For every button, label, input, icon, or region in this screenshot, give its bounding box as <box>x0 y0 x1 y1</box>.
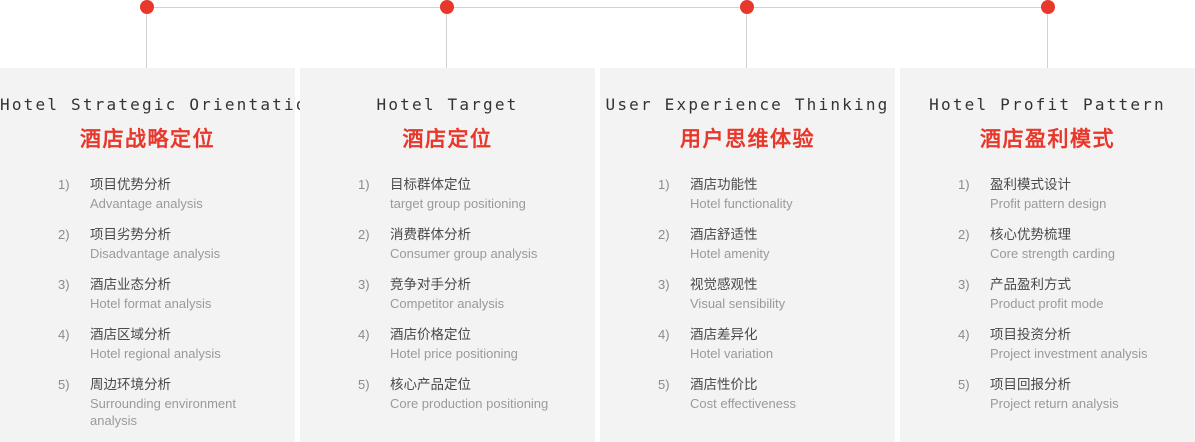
list-item: 4) 酒店价格定位 Hotel price positioning <box>358 325 577 362</box>
item-label-cn: 视觉感观性 <box>690 275 877 294</box>
item-number: 4) <box>658 325 690 362</box>
item-body: 项目劣势分析 Disadvantage analysis <box>90 225 277 262</box>
item-label-cn: 盈利模式设计 <box>990 175 1177 194</box>
item-number: 2) <box>658 225 690 262</box>
item-label-en: Hotel functionality <box>690 195 877 212</box>
item-number: 3) <box>58 275 90 312</box>
list-item: 5) 周边环境分析 Surrounding environment analys… <box>58 375 277 429</box>
item-label-en: target group positioning <box>390 195 577 212</box>
item-body: 视觉感观性 Visual sensibility <box>690 275 877 312</box>
item-label-en: Profit pattern design <box>990 195 1177 212</box>
list-item: 2) 核心优势梳理 Core strength carding <box>958 225 1177 262</box>
item-number: 5) <box>958 375 990 412</box>
item-body: 项目回报分析 Project return analysis <box>990 375 1177 412</box>
item-number: 2) <box>958 225 990 262</box>
item-label-cn: 产品盈利方式 <box>990 275 1177 294</box>
item-number: 1) <box>58 175 90 212</box>
item-label-en: Surrounding environment analysis <box>90 395 277 429</box>
item-label-en: Hotel format analysis <box>90 295 277 312</box>
item-body: 酒店价格定位 Hotel price positioning <box>390 325 577 362</box>
item-number: 4) <box>958 325 990 362</box>
list-item: 1) 目标群体定位 target group positioning <box>358 175 577 212</box>
list-item: 3) 酒店业态分析 Hotel format analysis <box>58 275 277 312</box>
item-label-cn: 周边环境分析 <box>90 375 277 394</box>
item-label-cn: 核心产品定位 <box>390 375 577 394</box>
item-label-en: Visual sensibility <box>690 295 877 312</box>
item-body: 盈利模式设计 Profit pattern design <box>990 175 1177 212</box>
item-label-cn: 核心优势梳理 <box>990 225 1177 244</box>
item-number: 1) <box>958 175 990 212</box>
item-body: 目标群体定位 target group positioning <box>390 175 577 212</box>
column-title-cn: 酒店盈利模式 <box>900 123 1195 153</box>
item-body: 核心产品定位 Core production positioning <box>390 375 577 412</box>
item-label-en: Hotel regional analysis <box>90 345 277 362</box>
item-body: 周边环境分析 Surrounding environment analysis <box>90 375 277 429</box>
item-label-en: Project investment analysis <box>990 345 1177 362</box>
item-label-en: Hotel price positioning <box>390 345 577 362</box>
timeline-node-2[interactable] <box>440 0 454 14</box>
list-item: 5) 酒店性价比 Cost effectiveness <box>658 375 877 412</box>
list-item: 4) 酒店差异化 Hotel variation <box>658 325 877 362</box>
item-label-cn: 消费群体分析 <box>390 225 577 244</box>
item-label-en: Consumer group analysis <box>390 245 577 262</box>
item-label-en: Core production positioning <box>390 395 577 412</box>
list-item: 5) 项目回报分析 Project return analysis <box>958 375 1177 412</box>
timeline-line <box>140 7 1050 8</box>
item-body: 酒店差异化 Hotel variation <box>690 325 877 362</box>
item-body: 消费群体分析 Consumer group analysis <box>390 225 577 262</box>
item-label-en: Product profit mode <box>990 295 1177 312</box>
item-label-cn: 酒店业态分析 <box>90 275 277 294</box>
item-label-en: Cost effectiveness <box>690 395 877 412</box>
item-label-cn: 项目优势分析 <box>90 175 277 194</box>
item-label-cn: 项目回报分析 <box>990 375 1177 394</box>
item-body: 酒店舒适性 Hotel amenity <box>690 225 877 262</box>
item-number: 1) <box>358 175 390 212</box>
column-title-en: Hotel Target <box>300 95 595 114</box>
item-label-cn: 酒店差异化 <box>690 325 877 344</box>
timeline-node-4[interactable] <box>1041 0 1055 14</box>
item-number: 5) <box>658 375 690 412</box>
item-label-cn: 酒店区域分析 <box>90 325 277 344</box>
item-body: 酒店业态分析 Hotel format analysis <box>90 275 277 312</box>
list-item: 1) 盈利模式设计 Profit pattern design <box>958 175 1177 212</box>
timeline-stem-4 <box>1047 14 1048 72</box>
list-item: 1) 项目优势分析 Advantage analysis <box>58 175 277 212</box>
column-title-en: Hotel Profit Pattern <box>900 95 1195 114</box>
item-label-cn: 项目劣势分析 <box>90 225 277 244</box>
item-label-en: Project return analysis <box>990 395 1177 412</box>
item-label-cn: 酒店性价比 <box>690 375 877 394</box>
item-number: 2) <box>358 225 390 262</box>
item-label-cn: 竞争对手分析 <box>390 275 577 294</box>
list-item: 3) 视觉感观性 Visual sensibility <box>658 275 877 312</box>
list-item: 5) 核心产品定位 Core production positioning <box>358 375 577 412</box>
list-item: 1) 酒店功能性 Hotel functionality <box>658 175 877 212</box>
list-item: 4) 项目投资分析 Project investment analysis <box>958 325 1177 362</box>
item-body: 产品盈利方式 Product profit mode <box>990 275 1177 312</box>
column-hotel-target[interactable]: Hotel Target 酒店定位 1) 目标群体定位 target group… <box>300 68 595 442</box>
timeline <box>0 0 1195 72</box>
item-label-en: Advantage analysis <box>90 195 277 212</box>
item-number: 4) <box>58 325 90 362</box>
column-hotel-strategic-orientation[interactable]: Hotel Strategic Orientation 酒店战略定位 1) 项目… <box>0 68 295 442</box>
item-number: 5) <box>58 375 90 429</box>
item-label-en: Core strength carding <box>990 245 1177 262</box>
timeline-stem-3 <box>746 14 747 72</box>
column-title-cn: 酒店战略定位 <box>0 123 295 153</box>
timeline-node-1[interactable] <box>140 0 154 14</box>
column-group: Hotel Strategic Orientation 酒店战略定位 1) 项目… <box>0 68 1195 442</box>
item-body: 酒店功能性 Hotel functionality <box>690 175 877 212</box>
item-body: 竞争对手分析 Competitor analysis <box>390 275 577 312</box>
item-body: 核心优势梳理 Core strength carding <box>990 225 1177 262</box>
item-body: 项目投资分析 Project investment analysis <box>990 325 1177 362</box>
item-number: 4) <box>358 325 390 362</box>
column-title-en: Hotel Strategic Orientation <box>0 95 295 114</box>
column-user-experience-thinking[interactable]: User Experience Thinking 用户思维体验 1) 酒店功能性… <box>600 68 895 442</box>
item-number: 3) <box>658 275 690 312</box>
item-label-cn: 目标群体定位 <box>390 175 577 194</box>
item-number: 3) <box>358 275 390 312</box>
item-label-cn: 项目投资分析 <box>990 325 1177 344</box>
column-title-cn: 酒店定位 <box>300 123 595 153</box>
item-list: 1) 酒店功能性 Hotel functionality 2) 酒店舒适性 Ho… <box>600 175 895 412</box>
list-item: 2) 消费群体分析 Consumer group analysis <box>358 225 577 262</box>
timeline-node-3[interactable] <box>740 0 754 14</box>
list-item: 3) 产品盈利方式 Product profit mode <box>958 275 1177 312</box>
item-list: 1) 盈利模式设计 Profit pattern design 2) 核心优势梳… <box>900 175 1195 412</box>
item-number: 2) <box>58 225 90 262</box>
list-item: 2) 酒店舒适性 Hotel amenity <box>658 225 877 262</box>
item-label-en: Hotel variation <box>690 345 877 362</box>
item-number: 1) <box>658 175 690 212</box>
item-label-cn: 酒店价格定位 <box>390 325 577 344</box>
column-title-en: User Experience Thinking <box>600 95 895 114</box>
timeline-stem-2 <box>446 14 447 72</box>
item-number: 5) <box>358 375 390 412</box>
timeline-stem-1 <box>146 14 147 72</box>
column-hotel-profit-pattern[interactable]: Hotel Profit Pattern 酒店盈利模式 1) 盈利模式设计 Pr… <box>900 68 1195 442</box>
item-label-cn: 酒店功能性 <box>690 175 877 194</box>
item-label-en: Competitor analysis <box>390 295 577 312</box>
list-item: 3) 竞争对手分析 Competitor analysis <box>358 275 577 312</box>
item-label-cn: 酒店舒适性 <box>690 225 877 244</box>
item-number: 3) <box>958 275 990 312</box>
item-list: 1) 目标群体定位 target group positioning 2) 消费… <box>300 175 595 412</box>
item-body: 酒店性价比 Cost effectiveness <box>690 375 877 412</box>
list-item: 2) 项目劣势分析 Disadvantage analysis <box>58 225 277 262</box>
item-body: 项目优势分析 Advantage analysis <box>90 175 277 212</box>
item-body: 酒店区域分析 Hotel regional analysis <box>90 325 277 362</box>
item-list: 1) 项目优势分析 Advantage analysis 2) 项目劣势分析 D… <box>0 175 295 429</box>
column-title-cn: 用户思维体验 <box>600 123 895 153</box>
list-item: 4) 酒店区域分析 Hotel regional analysis <box>58 325 277 362</box>
item-label-en: Hotel amenity <box>690 245 877 262</box>
item-label-en: Disadvantage analysis <box>90 245 277 262</box>
